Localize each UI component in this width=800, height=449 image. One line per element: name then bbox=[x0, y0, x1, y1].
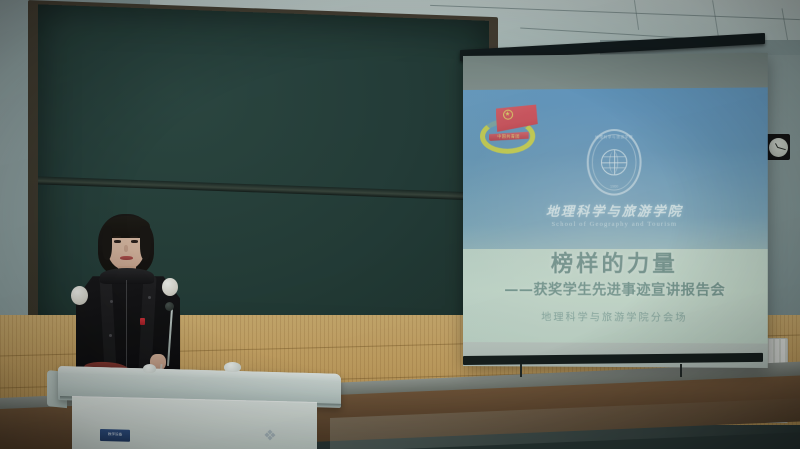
college-name-cn: 地理科学与旅游学院 bbox=[546, 201, 683, 220]
college-name-en: School of Geography and Tourism bbox=[551, 221, 677, 228]
jacket-snap bbox=[110, 300, 113, 303]
podium-control-knob[interactable] bbox=[224, 362, 241, 372]
star-icon: ★ bbox=[503, 110, 513, 120]
college-crest-icon: 地理科学与旅游学院 1960 bbox=[587, 129, 642, 196]
eyebrow-left bbox=[113, 236, 121, 238]
screen-unlit-top bbox=[463, 53, 768, 90]
podium-asset-label: 教学设备 bbox=[100, 429, 130, 442]
fur-pompom-left bbox=[71, 286, 88, 305]
nose bbox=[124, 245, 128, 252]
projection-screen: ★ 中国共青团 地理科学与旅游学院 19 bbox=[455, 22, 770, 367]
lecture-hall-scene: ★ 中国共青团 地理科学与旅游学院 19 bbox=[0, 0, 800, 449]
screen-hook bbox=[680, 364, 682, 377]
eye-left bbox=[114, 240, 121, 243]
podium-control-knob[interactable] bbox=[143, 364, 156, 373]
hair-side-left bbox=[102, 226, 112, 260]
slide-sub-title: ——获奖学生先进事迹宣讲报告会 bbox=[463, 279, 768, 300]
clock-minute-hand bbox=[778, 147, 786, 150]
globe-icon bbox=[601, 149, 627, 175]
mouth bbox=[120, 256, 133, 260]
hair-side-right bbox=[140, 226, 151, 260]
red-lapel-pin bbox=[140, 318, 145, 325]
screen-hook bbox=[520, 364, 522, 377]
eyebrow-right bbox=[130, 236, 138, 238]
jacket-snap bbox=[148, 296, 151, 299]
microphone-head bbox=[165, 302, 174, 311]
presentation-slide: ★ 中国共青团 地理科学与旅游学院 19 bbox=[463, 87, 768, 343]
college-mark: 地理科学与旅游学院 1960 地理科学与旅游学院 School of Geogr… bbox=[463, 128, 768, 228]
slide-venue-line: 地理科学与旅游学院分会场 bbox=[463, 308, 768, 324]
eye-right bbox=[131, 240, 138, 243]
podium-emblem-icon: ❖ bbox=[255, 426, 285, 449]
fur-pompom-right bbox=[162, 278, 178, 296]
jacket-snap bbox=[109, 334, 112, 337]
slide-main-title: 榜样的力量 bbox=[463, 253, 768, 277]
crest-year-label: 1960 bbox=[589, 185, 640, 189]
jacket-zipper bbox=[126, 280, 127, 368]
speaker-person bbox=[62, 214, 192, 379]
screen-surface: ★ 中国共青团 地理科学与旅游学院 19 bbox=[463, 53, 768, 368]
crest-inner-ring bbox=[592, 134, 637, 191]
slide-title-block: 榜样的力量 ——获奖学生先进事迹宣讲报告会 地理科学与旅游学院分会场 bbox=[463, 253, 768, 324]
clock-face bbox=[769, 138, 788, 157]
